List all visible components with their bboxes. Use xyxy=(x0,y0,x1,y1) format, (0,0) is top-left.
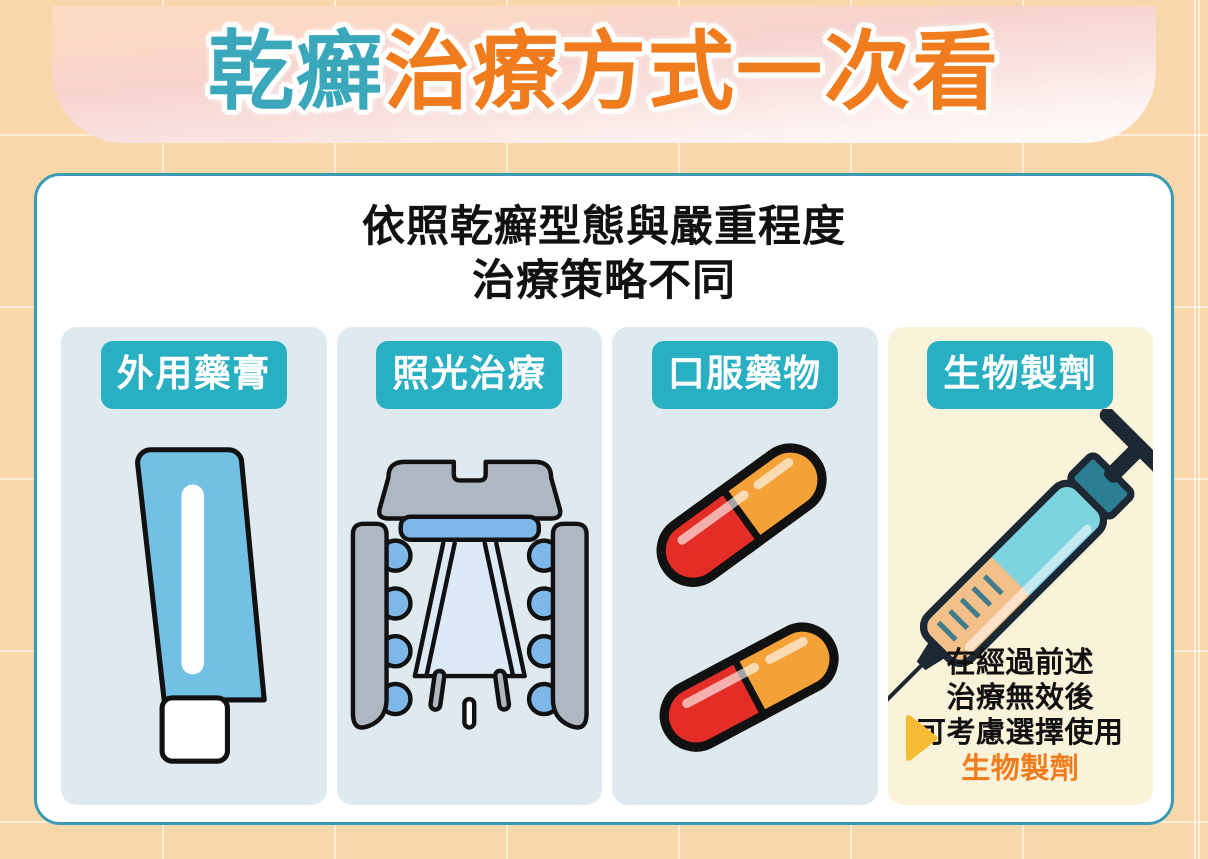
capsule-pills-icon xyxy=(612,409,878,805)
subtitle: 依照乾癬型態與嚴重程度 治療策略不同 xyxy=(37,200,1171,308)
caption-line-2: 治療無效後 xyxy=(888,681,1154,716)
ointment-tube-icon xyxy=(61,409,327,805)
title-banner: 乾癬治療方式一次看 xyxy=(52,6,1156,143)
card-label-phototherapy: 照光治療 xyxy=(376,341,562,409)
caption-line-1: 在經過前述 xyxy=(888,646,1154,681)
treatment-card-topical[interactable]: 外用藥膏 xyxy=(61,327,327,805)
page-title-teal-part: 乾癬 xyxy=(208,24,384,120)
phototherapy-booth-icon xyxy=(337,409,603,805)
card-label-topical: 外用藥膏 xyxy=(101,341,287,409)
treatment-card-row: 外用藥膏 照光治療 xyxy=(61,327,1153,805)
content-panel: 依照乾癬型態與嚴重程度 治療策略不同 外用藥膏 xyxy=(34,173,1174,825)
card-label-biologics: 生物製劑 xyxy=(927,341,1113,409)
play-triangle-right-icon xyxy=(898,712,940,764)
treatment-card-phototherapy[interactable]: 照光治療 xyxy=(337,327,603,805)
subtitle-line-2: 治療策略不同 xyxy=(37,254,1171,308)
subtitle-line-1: 依照乾癬型態與嚴重程度 xyxy=(37,200,1171,254)
page-title: 乾癬治療方式一次看 xyxy=(208,29,1000,121)
card-label-oral: 口服藥物 xyxy=(652,341,838,409)
page-title-orange-part: 治療方式一次看 xyxy=(384,24,1000,120)
infographic-root: 乾癬治療方式一次看 依照乾癬型態與嚴重程度 治療策略不同 外用藥膏 xyxy=(0,0,1208,859)
treatment-card-oral[interactable]: 口服藥物 xyxy=(612,327,878,805)
